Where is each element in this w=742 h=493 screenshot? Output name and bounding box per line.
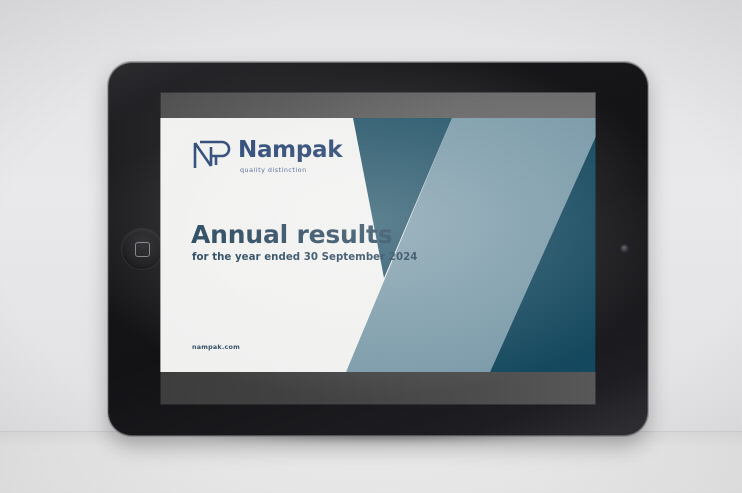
logo-name: Nampak <box>238 139 342 162</box>
logo-tagline: quality distinction <box>240 166 342 174</box>
tablet-screen[interactable]: Nampak quality distinction Annual result… <box>160 92 596 405</box>
slide-headline: Annual results <box>191 222 392 247</box>
slide-subheadline: for the year ended 30 September 2024 <box>192 252 417 263</box>
scene: Nampak quality distinction Annual result… <box>0 0 742 493</box>
logo-wordmark: Nampak quality distinction <box>238 139 342 174</box>
np-monogram-icon <box>191 138 231 171</box>
home-button-icon <box>135 242 150 257</box>
letterbox-band-top <box>160 92 596 118</box>
tablet-device[interactable]: Nampak quality distinction Annual result… <box>108 62 648 436</box>
letterbox-band-bottom <box>160 372 596 405</box>
presentation-slide: Nampak quality distinction Annual result… <box>160 118 596 372</box>
home-button[interactable] <box>122 229 162 269</box>
slide-website: nampak.com <box>192 343 240 351</box>
front-camera-icon <box>621 245 628 252</box>
nampak-logo: Nampak quality distinction <box>191 138 342 174</box>
